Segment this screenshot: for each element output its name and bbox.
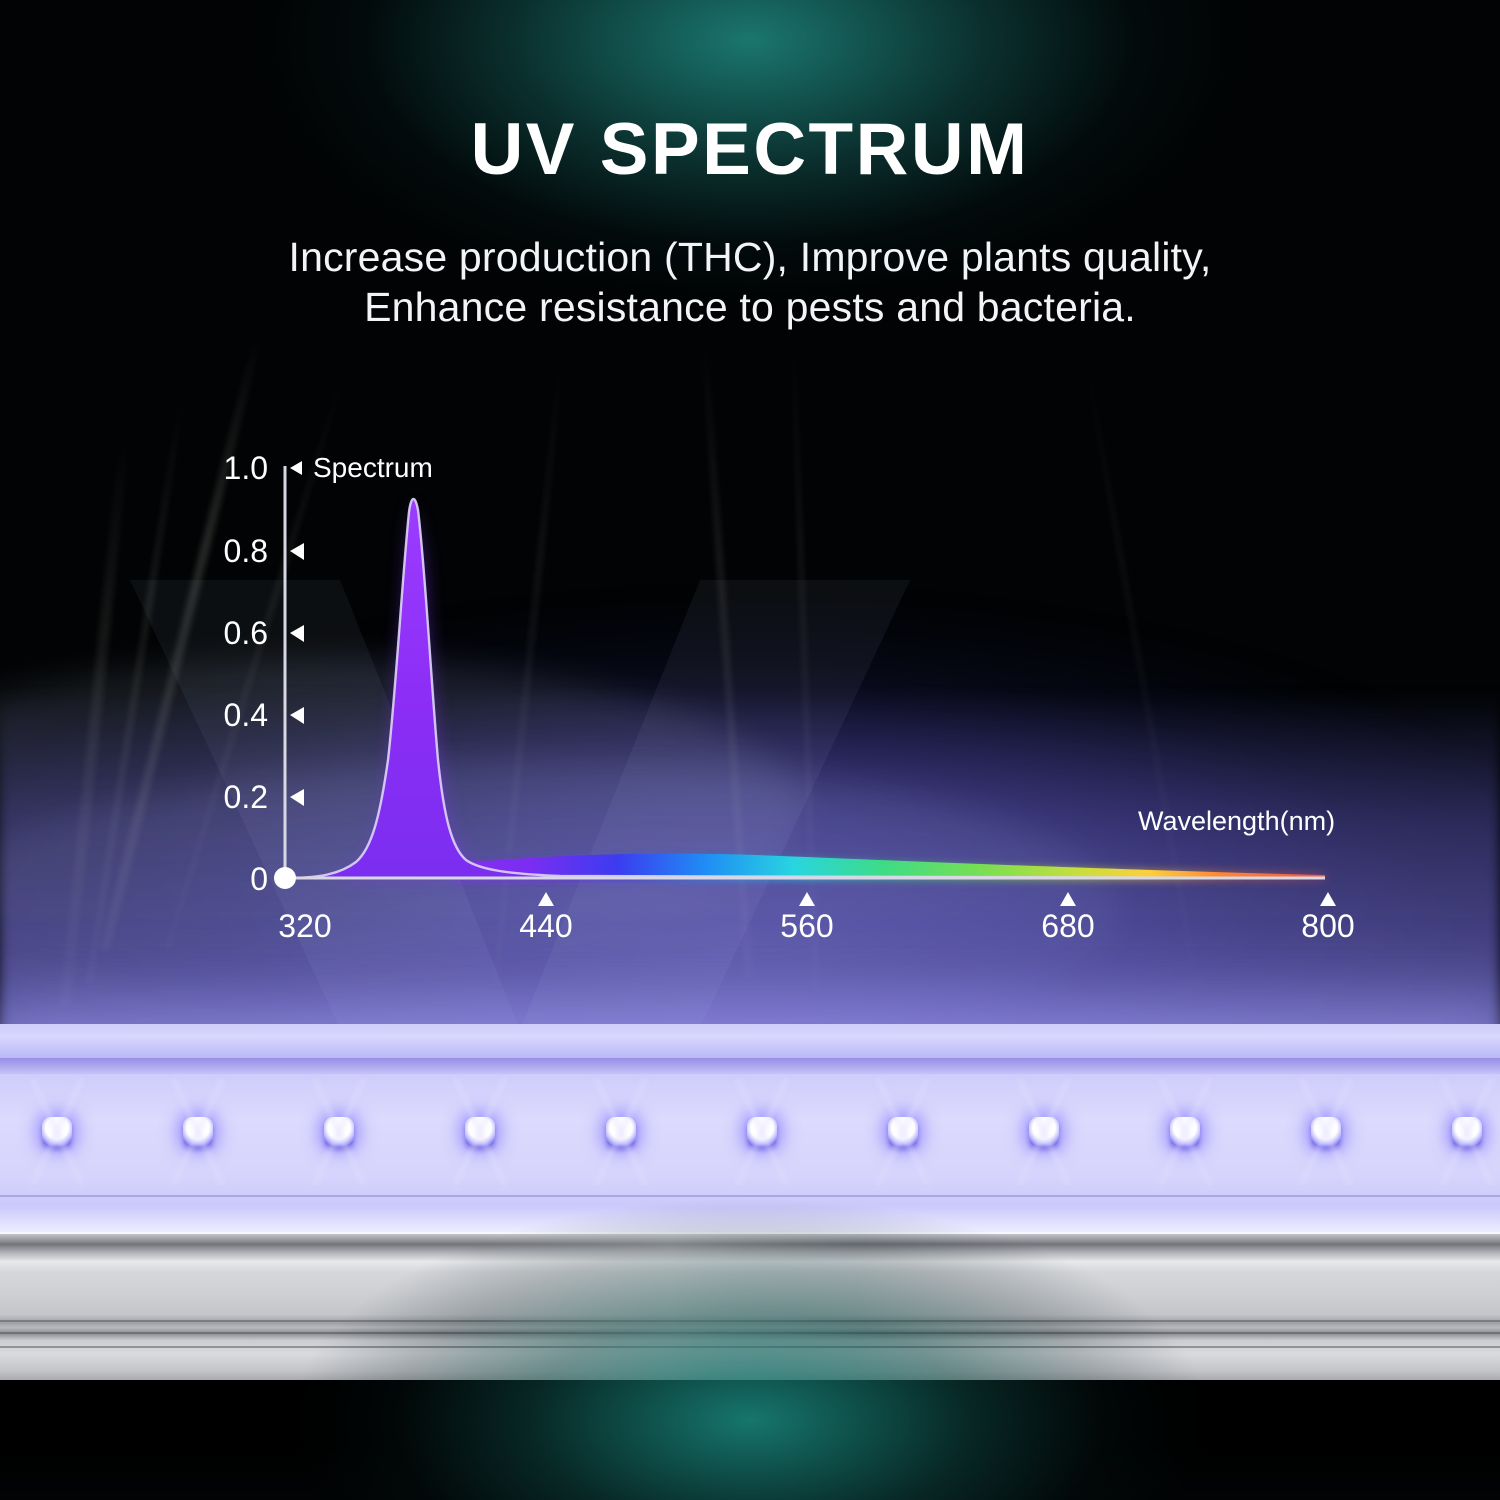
page-title: UV SPECTRUM [0, 108, 1500, 191]
x-tick-label-800: 800 [1268, 908, 1388, 945]
y-tick-label-0.4: 0.4 [198, 697, 268, 734]
y-tick-label-1.0: 1.0 [198, 450, 268, 487]
subtitle-line-2: Enhance resistance to pests and bacteria… [0, 282, 1500, 332]
x-tick-label-320: 320 [245, 908, 365, 945]
y-tick-label-0: 0 [198, 861, 268, 898]
x-tick-label-560: 560 [747, 908, 867, 945]
teal-glow-top [0, 0, 1500, 420]
teal-glow-bottom [0, 1110, 1500, 1500]
x-axis-title: Wavelength(nm) [1138, 806, 1335, 837]
page-subtitle: Increase production (THC), Improve plant… [0, 232, 1500, 332]
x-tick-label-680: 680 [1008, 908, 1128, 945]
y-tick-label-0.2: 0.2 [198, 779, 268, 816]
subtitle-line-1: Increase production (THC), Improve plant… [0, 232, 1500, 282]
y-tick-label-0.8: 0.8 [198, 533, 268, 570]
y-tick-label-0.6: 0.6 [198, 615, 268, 652]
origin-marker [274, 867, 296, 889]
uv-spectrum-infographic: UV SPECTRUM Increase production (THC), I… [0, 0, 1500, 1500]
panel-top-strip [0, 1058, 1500, 1074]
x-tick-label-440: 440 [486, 908, 606, 945]
series-legend-label: Spectrum [313, 452, 433, 484]
